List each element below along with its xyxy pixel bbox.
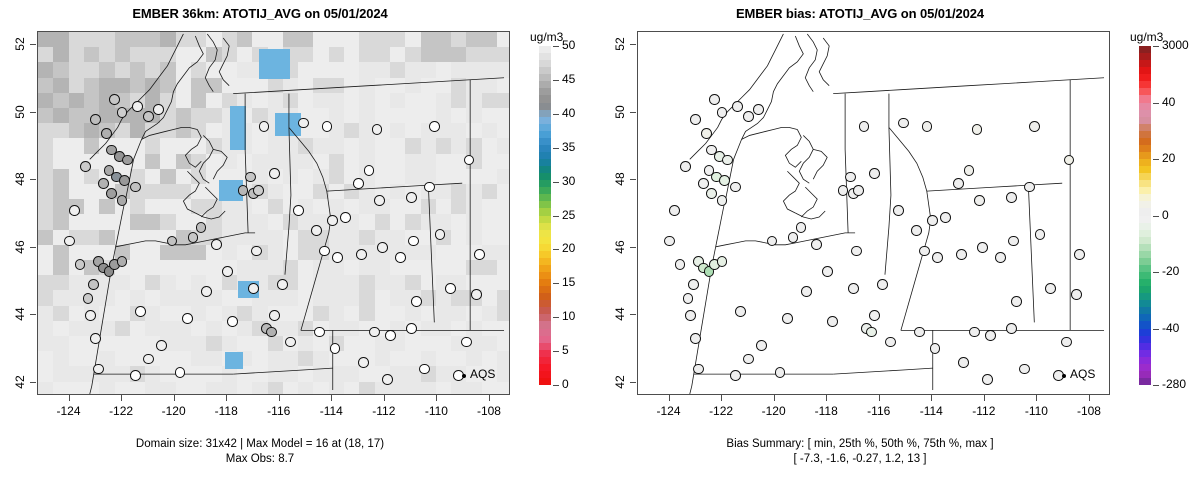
observation-marker[interactable] [80, 161, 91, 172]
y-tick [630, 382, 636, 383]
observation-marker[interactable] [369, 327, 380, 338]
bias-caption-line1: Bias Summary: [ min, 25th %, 50th %, 75t… [600, 437, 1120, 451]
observation-marker[interactable] [75, 259, 86, 270]
observation-marker[interactable] [188, 232, 199, 243]
observation-marker[interactable] [898, 118, 909, 129]
observation-marker[interactable] [411, 296, 422, 307]
observation-marker[interactable] [130, 182, 141, 193]
colorbar-segment [539, 88, 551, 95]
x-tick [489, 395, 490, 401]
observation-marker[interactable] [1029, 121, 1040, 132]
colorbar-segment [1139, 293, 1151, 300]
observation-marker[interactable] [853, 185, 864, 196]
observation-marker[interactable] [251, 246, 262, 257]
observation-marker[interactable] [101, 128, 112, 139]
observation-marker[interactable] [930, 343, 941, 354]
observation-marker[interactable] [330, 343, 341, 354]
colorbar-segment [1139, 81, 1151, 88]
observation-marker[interactable] [238, 185, 249, 196]
colorbar-tick-label: 15 [562, 275, 575, 289]
observation-marker[interactable] [822, 266, 833, 277]
observation-marker[interactable] [717, 107, 728, 118]
y-tick [630, 44, 636, 45]
colorbar-segment [539, 46, 551, 53]
observation-marker[interactable] [293, 205, 304, 216]
colorbar-segment [1139, 251, 1151, 258]
observation-marker[interactable] [122, 155, 133, 166]
observation-marker[interactable] [940, 212, 951, 223]
observation-marker[interactable] [690, 333, 701, 344]
colorbar-tick-label: -20 [1162, 264, 1179, 278]
observation-marker[interactable] [364, 165, 375, 176]
colorbar-segment [539, 124, 551, 131]
x-tick-label: -114 [911, 404, 951, 418]
observation-marker[interactable] [117, 107, 128, 118]
x-tick [879, 395, 880, 401]
colorbar-segment [1139, 187, 1151, 194]
observation-marker[interactable] [1024, 182, 1035, 193]
observation-marker[interactable] [811, 239, 822, 250]
model-caption-line1: Domain size: 31x42 | Max Model = 16 at (… [0, 437, 520, 451]
observation-marker[interactable] [995, 252, 1006, 263]
observation-marker[interactable] [730, 370, 741, 381]
observation-marker[interactable] [866, 327, 877, 338]
observation-marker[interactable] [408, 236, 419, 247]
observation-marker[interactable] [1006, 323, 1017, 334]
observation-marker[interactable] [1064, 155, 1075, 166]
colorbar-segment [539, 321, 551, 328]
colorbar-segment [1139, 110, 1151, 117]
colorbar-tick [1153, 159, 1159, 160]
observation-marker[interactable] [353, 178, 364, 189]
observation-marker[interactable] [464, 155, 475, 166]
colorbar-tick [553, 148, 559, 149]
colorbar-tick-label: 0 [1162, 208, 1169, 222]
observation-marker[interactable] [64, 236, 75, 247]
observation-marker[interactable] [927, 215, 938, 226]
colorbar-tick-label: 3000 [1162, 38, 1189, 52]
aqs-legend-dot [462, 374, 466, 378]
observation-marker[interactable] [977, 242, 988, 253]
colorbar-segment [539, 187, 551, 194]
observation-marker[interactable] [248, 283, 259, 294]
observation-marker[interactable] [419, 364, 430, 375]
observation-marker[interactable] [269, 310, 280, 321]
x-tick-label: -118 [806, 404, 846, 418]
observation-marker[interactable] [688, 279, 699, 290]
observation-marker[interactable] [801, 286, 812, 297]
x-tick [121, 395, 122, 401]
colorbar-tick-label: 5 [562, 343, 569, 357]
observation-marker[interactable] [385, 330, 396, 341]
observation-marker[interactable] [788, 232, 799, 243]
observation-marker[interactable] [709, 94, 720, 105]
observation-marker[interactable] [722, 155, 733, 166]
observation-marker[interactable] [93, 364, 104, 375]
colorbar-segment [539, 350, 551, 357]
observation-marker[interactable] [90, 333, 101, 344]
observation-marker[interactable] [424, 182, 435, 193]
observation-marker[interactable] [1045, 283, 1056, 294]
colorbar-segment [539, 293, 551, 300]
observation-marker[interactable] [471, 289, 482, 300]
colorbar-segment [1139, 194, 1151, 201]
observation-marker[interactable] [372, 124, 383, 135]
colorbar-segment [539, 117, 551, 124]
x-tick [984, 395, 985, 401]
colorbar-segment [1139, 216, 1151, 223]
colorbar-segment [539, 194, 551, 201]
observation-marker[interactable] [340, 212, 351, 223]
panel-model-plot-area[interactable]: AQS [37, 31, 510, 395]
observation-marker[interactable] [1008, 236, 1019, 247]
observation-marker[interactable] [143, 111, 154, 122]
observation-marker[interactable] [382, 374, 393, 385]
observation-marker[interactable] [109, 94, 120, 105]
colorbar-tick-label: 50 [562, 38, 575, 52]
colorbar-segment [1139, 166, 1151, 173]
colorbar-segment [539, 343, 551, 350]
aqs-legend-label: AQS [1070, 367, 1095, 381]
observation-marker[interactable] [958, 357, 969, 368]
observation-marker[interactable] [969, 327, 980, 338]
colorbar-segment [1139, 173, 1151, 180]
observation-marker[interactable] [319, 246, 330, 257]
observation-marker[interactable] [859, 121, 870, 132]
colorbar-segment [539, 237, 551, 244]
observation-marker[interactable] [685, 310, 696, 321]
y-tick-label: 46 [613, 232, 627, 262]
x-tick [1089, 395, 1090, 401]
colorbar-segment [1139, 279, 1151, 286]
observation-marker[interactable] [222, 266, 233, 277]
x-tick [384, 395, 385, 401]
observation-marker[interactable] [753, 104, 764, 115]
observation-marker[interactable] [445, 283, 456, 294]
y-tick-label: 42 [13, 367, 27, 397]
observation-marker[interactable] [322, 121, 333, 132]
colorbar-segment [1139, 145, 1151, 152]
observation-marker[interactable] [717, 195, 728, 206]
observation-marker[interactable] [756, 340, 767, 351]
colorbar-tick [1153, 103, 1159, 104]
y-tick [30, 179, 36, 180]
colorbar-bias-units: ug/m3 [1130, 30, 1163, 44]
observation-marker[interactable] [664, 236, 675, 247]
colorbar-tick [553, 385, 559, 386]
observation-marker[interactable] [98, 178, 109, 189]
figure-root: EMBER 36km: ATOTIJ_AVG on 05/01/2024 AQS… [0, 0, 1200, 479]
observation-marker[interactable] [869, 310, 880, 321]
observation-marker[interactable] [893, 205, 904, 216]
colorbar-segment [539, 364, 551, 371]
observation-marker[interactable] [885, 337, 896, 348]
observation-marker[interactable] [153, 104, 164, 115]
y-tick [630, 314, 636, 315]
observation-marker[interactable] [314, 327, 325, 338]
y-tick-label: 44 [613, 299, 627, 329]
colorbar-tick [1153, 216, 1159, 217]
observation-marker[interactable] [117, 195, 128, 206]
observation-marker[interactable] [196, 222, 207, 233]
observation-marker[interactable] [83, 293, 94, 304]
observation-marker[interactable] [845, 172, 856, 183]
colorbar-segment [539, 201, 551, 208]
colorbar-segment [539, 208, 551, 215]
observation-marker[interactable] [730, 182, 741, 193]
colorbar-segment [1139, 138, 1151, 145]
colorbar-segment [1139, 67, 1151, 74]
colorbar-segment [539, 152, 551, 159]
observation-marker[interactable] [175, 367, 186, 378]
observation-marker[interactable] [911, 225, 922, 236]
observation-marker[interactable] [245, 172, 256, 183]
observation-marker[interactable] [717, 256, 728, 267]
observation-marker[interactable] [167, 236, 178, 247]
y-tick-label: 48 [613, 164, 627, 194]
observation-marker[interactable] [69, 205, 80, 216]
observation-points-left [38, 32, 509, 394]
y-tick-label: 52 [613, 29, 627, 59]
x-tick [1036, 395, 1037, 401]
observation-marker[interactable] [130, 370, 141, 381]
observation-marker[interactable] [1035, 229, 1046, 240]
colorbar-segment [539, 60, 551, 67]
colorbar-tick [1153, 272, 1159, 273]
colorbar-segment [539, 357, 551, 364]
observation-marker[interactable] [675, 259, 686, 270]
observation-marker[interactable] [932, 252, 943, 263]
x-tick-label: -108 [469, 404, 509, 418]
aqs-legend-label: AQS [470, 367, 495, 381]
observation-marker[interactable] [877, 279, 888, 290]
colorbar-tick [553, 182, 559, 183]
colorbar-segment [539, 145, 551, 152]
x-tick [669, 395, 670, 401]
colorbar-segment [1139, 300, 1151, 307]
observation-marker[interactable] [266, 327, 277, 338]
observation-marker[interactable] [1071, 289, 1082, 300]
observation-marker[interactable] [869, 168, 880, 179]
observation-marker[interactable] [356, 249, 367, 260]
observation-marker[interactable] [982, 374, 993, 385]
observation-marker[interactable] [690, 114, 701, 125]
y-tick-label: 52 [13, 29, 27, 59]
observation-marker[interactable] [698, 178, 709, 189]
colorbar-segment [1139, 223, 1151, 230]
observation-marker[interactable] [669, 205, 680, 216]
x-tick-label: -110 [1016, 404, 1056, 418]
colorbar-tick [553, 317, 559, 318]
colorbar-segment [1139, 88, 1151, 95]
panel-model: EMBER 36km: ATOTIJ_AVG on 05/01/2024 AQS… [0, 0, 600, 479]
observation-marker[interactable] [435, 229, 446, 240]
observation-marker[interactable] [732, 101, 743, 112]
observation-marker[interactable] [406, 192, 417, 203]
observation-marker[interactable] [701, 128, 712, 139]
colorbar-segment [1139, 159, 1151, 166]
y-tick [630, 112, 636, 113]
colorbar-tick-label: 40 [1162, 95, 1175, 109]
observation-marker[interactable] [767, 236, 778, 247]
observation-marker[interactable] [253, 185, 264, 196]
observation-marker[interactable] [827, 316, 838, 327]
bias-caption-line2: [ -7.3, -1.6, -0.27, 1.2, 13 ] [600, 452, 1120, 466]
colorbar-tick-label: -280 [1162, 377, 1186, 391]
observation-marker[interactable] [838, 185, 849, 196]
colorbar-segment [1139, 329, 1151, 336]
colorbar-segment [539, 272, 551, 279]
observation-marker[interactable] [143, 354, 154, 365]
observation-marker[interactable] [743, 111, 754, 122]
colorbar-segment [539, 251, 551, 258]
colorbar-segment [1139, 307, 1151, 314]
colorbar-tick [553, 216, 559, 217]
x-tick-label: -122 [101, 404, 141, 418]
observation-marker[interactable] [311, 225, 322, 236]
colorbar-bias-gradient [1139, 46, 1151, 385]
observation-marker[interactable] [132, 101, 143, 112]
x-tick-label: -120 [754, 404, 794, 418]
observation-marker[interactable] [461, 337, 472, 348]
observation-marker[interactable] [796, 222, 807, 233]
x-tick [69, 395, 70, 401]
colorbar-segment [1139, 208, 1151, 215]
x-tick-label: -120 [154, 404, 194, 418]
observation-marker[interactable] [1019, 364, 1030, 375]
colorbar-segment [539, 329, 551, 336]
observation-marker[interactable] [693, 364, 704, 375]
x-tick-label: -110 [416, 404, 456, 418]
x-tick-label: -122 [701, 404, 741, 418]
observation-marker[interactable] [332, 252, 343, 263]
colorbar-segment [1139, 131, 1151, 138]
y-tick-label: 46 [13, 232, 27, 262]
observation-marker[interactable] [374, 195, 385, 206]
observation-marker[interactable] [377, 242, 388, 253]
observation-marker[interactable] [227, 316, 238, 327]
colorbar-tick-label: 0 [562, 377, 569, 391]
x-tick-label: -116 [259, 404, 299, 418]
colorbar-segment [1139, 74, 1151, 81]
colorbar-segment [539, 180, 551, 187]
observation-marker[interactable] [474, 249, 485, 260]
colorbar-segment [1139, 350, 1151, 357]
observation-marker[interactable] [922, 121, 933, 132]
observation-marker[interactable] [182, 313, 193, 324]
aqs-legend-dot [1062, 374, 1066, 378]
observation-marker[interactable] [277, 279, 288, 290]
observation-marker[interactable] [706, 188, 717, 199]
observation-marker[interactable] [285, 337, 296, 348]
observation-marker[interactable] [259, 121, 270, 132]
colorbar-tick-label: 25 [562, 208, 575, 222]
x-tick-label: -112 [364, 404, 404, 418]
observation-marker[interactable] [106, 188, 117, 199]
observation-marker[interactable] [782, 313, 793, 324]
observation-marker[interactable] [201, 286, 212, 297]
y-tick [30, 382, 36, 383]
x-tick [174, 395, 175, 401]
colorbar-segment [539, 216, 551, 223]
colorbar-segment [539, 81, 551, 88]
observation-marker[interactable] [119, 175, 130, 186]
observation-marker[interactable] [85, 310, 96, 321]
x-tick [279, 395, 280, 401]
observation-marker[interactable] [985, 330, 996, 341]
observation-marker[interactable] [735, 306, 746, 317]
observation-marker[interactable] [1061, 337, 1072, 348]
observation-marker[interactable] [964, 165, 975, 176]
colorbar-segment [539, 138, 551, 145]
colorbar-segment [539, 74, 551, 81]
observation-marker[interactable] [1074, 249, 1085, 260]
observation-marker[interactable] [974, 195, 985, 206]
colorbar-segment [539, 279, 551, 286]
observation-marker[interactable] [269, 168, 280, 179]
x-tick [721, 395, 722, 401]
observation-marker[interactable] [135, 306, 146, 317]
x-tick-label: -112 [964, 404, 1004, 418]
observation-marker[interactable] [406, 323, 417, 334]
observation-marker[interactable] [851, 246, 862, 257]
observation-marker[interactable] [156, 340, 167, 351]
colorbar-tick [553, 46, 559, 47]
observation-marker[interactable] [719, 175, 730, 186]
observation-marker[interactable] [680, 161, 691, 172]
colorbar-segment [539, 371, 551, 378]
colorbar-segment [1139, 357, 1151, 364]
observation-marker[interactable] [919, 246, 930, 257]
colorbar-segment [1139, 180, 1151, 187]
colorbar-segment [1139, 265, 1151, 272]
observation-marker[interactable] [956, 249, 967, 260]
observation-marker[interactable] [327, 215, 338, 226]
observation-marker[interactable] [88, 279, 99, 290]
observation-marker[interactable] [914, 327, 925, 338]
observation-marker[interactable] [395, 252, 406, 263]
observation-marker[interactable] [848, 283, 859, 294]
observation-marker[interactable] [743, 354, 754, 365]
observation-marker[interactable] [775, 367, 786, 378]
observation-marker[interactable] [117, 256, 128, 267]
observation-marker[interactable] [1011, 296, 1022, 307]
colorbar-tick-label: 45 [562, 72, 575, 86]
colorbar-model-units: ug/m3 [530, 30, 563, 44]
colorbar-segment [1139, 258, 1151, 265]
y-tick-label: 44 [13, 299, 27, 329]
observation-marker[interactable] [683, 293, 694, 304]
panel-bias-plot-area[interactable]: AQS [637, 31, 1110, 395]
observation-marker[interactable] [953, 178, 964, 189]
observation-marker[interactable] [298, 118, 309, 129]
colorbar-segment [1139, 103, 1151, 110]
observation-marker[interactable] [90, 114, 101, 125]
observation-marker[interactable] [211, 239, 222, 250]
colorbar-segment [539, 53, 551, 60]
colorbar-tick-label: -40 [1162, 321, 1179, 335]
colorbar-tick [1153, 385, 1159, 386]
y-tick [30, 247, 36, 248]
colorbar-segment [1139, 152, 1151, 159]
observation-marker[interactable] [429, 121, 440, 132]
observation-marker[interactable] [358, 357, 369, 368]
observation-marker[interactable] [972, 124, 983, 135]
y-tick-label: 48 [13, 164, 27, 194]
colorbar-tick [553, 283, 559, 284]
colorbar-segment [539, 265, 551, 272]
observation-marker[interactable] [1006, 192, 1017, 203]
